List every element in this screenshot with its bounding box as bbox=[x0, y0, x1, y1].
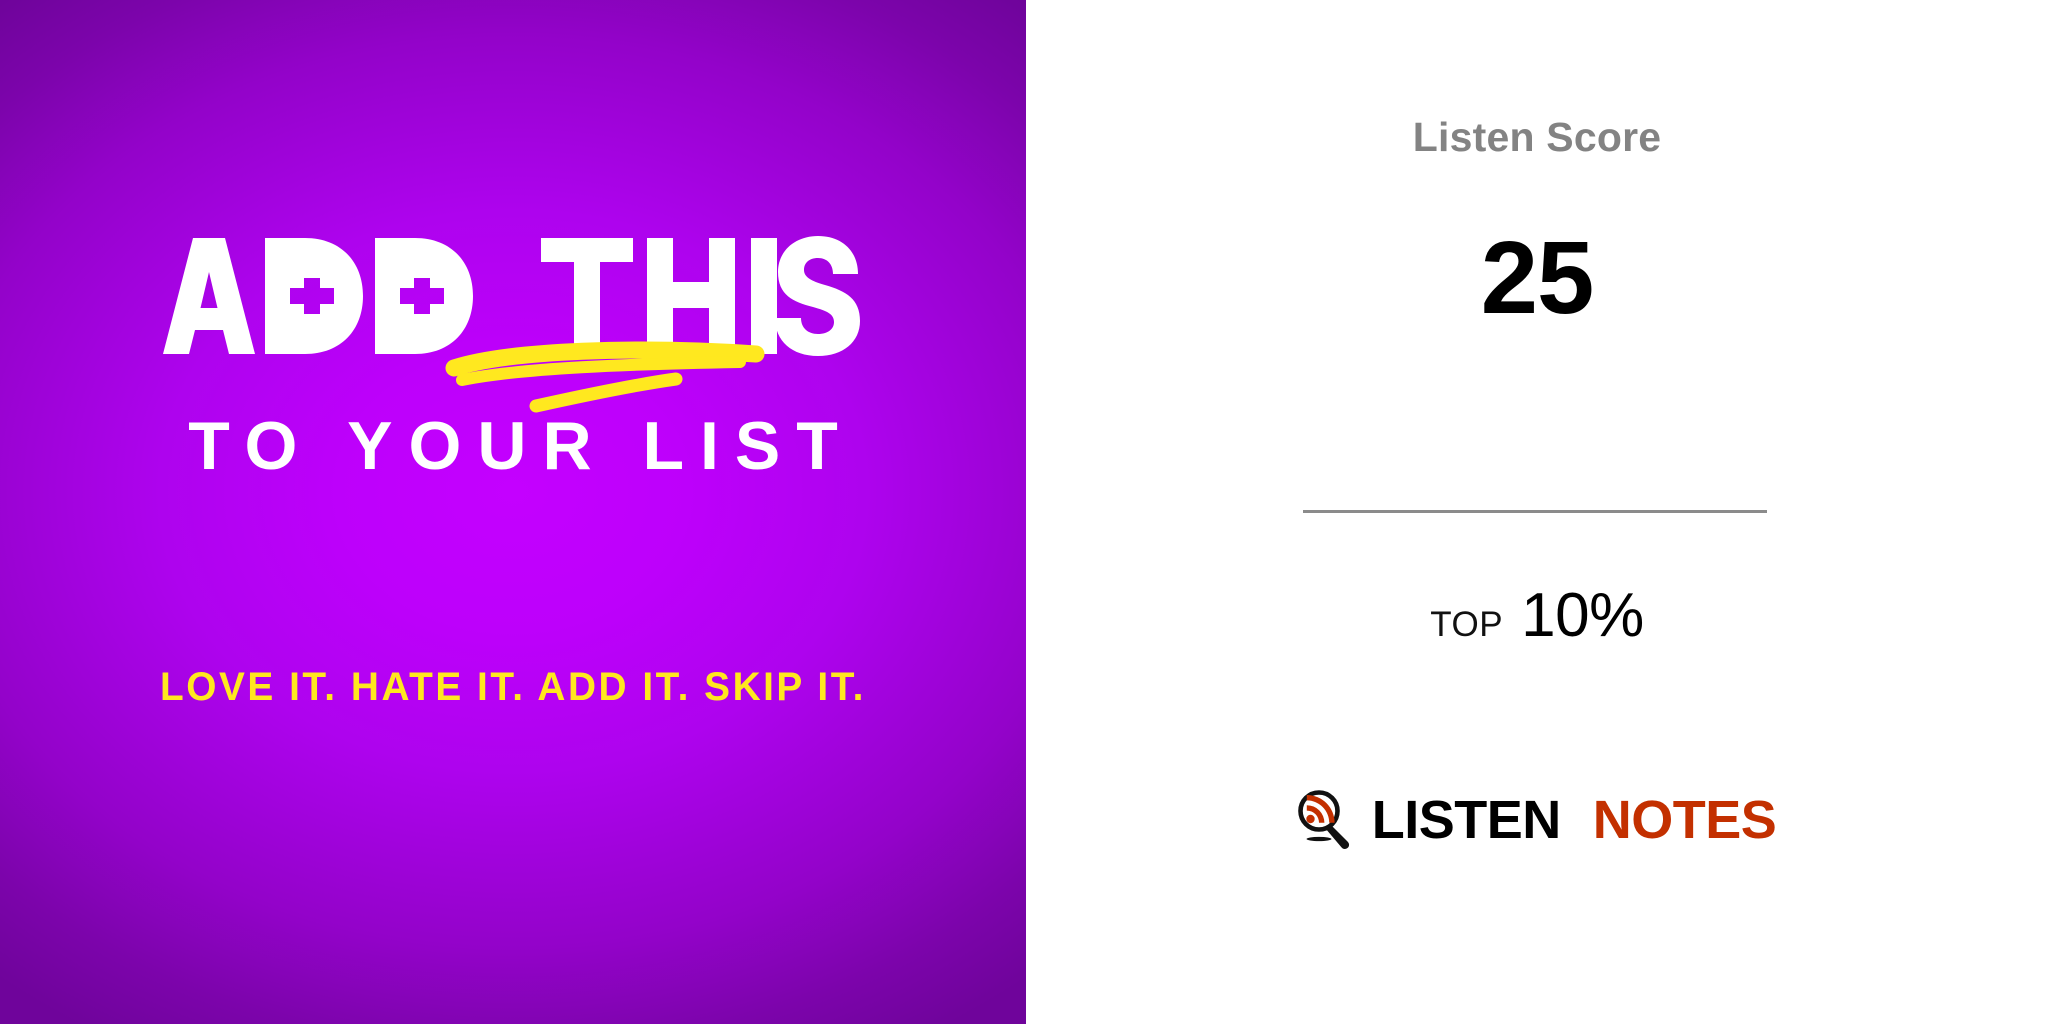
brand-word-notes: NOTES bbox=[1593, 793, 1777, 847]
score-divider bbox=[1303, 510, 1767, 513]
listen-score-value: 25 bbox=[1026, 226, 2048, 329]
listen-score-rank: TOP 10% bbox=[1026, 585, 2048, 647]
cover-art-inner: TO YOUR LIST LOVE IT. HATE IT. ADD IT. S… bbox=[0, 0, 1026, 1024]
podcast-cover-art: TO YOUR LIST LOVE IT. HATE IT. ADD IT. S… bbox=[0, 0, 1026, 1024]
listen-score-panel: Listen Score 25 TOP 10% bbox=[1026, 0, 2048, 1024]
magnifier-rss-glyph bbox=[1298, 790, 1354, 850]
listen-score-title: Listen Score bbox=[1026, 117, 2048, 158]
rank-percentile: 10% bbox=[1521, 585, 1644, 647]
magnifier-rss-icon bbox=[1298, 790, 1354, 850]
listen-notes-logo[interactable]: LISTEN NOTES bbox=[1026, 790, 2048, 850]
rank-label: TOP bbox=[1430, 607, 1503, 642]
listen-score-cover-card: TO YOUR LIST LOVE IT. HATE IT. ADD IT. S… bbox=[0, 0, 2048, 1024]
cover-tagline: LOVE IT. HATE IT. ADD IT. SKIP IT. bbox=[15, 667, 1010, 707]
brand-word-listen: LISTEN bbox=[1372, 793, 1561, 847]
cover-subline: TO YOUR LIST bbox=[0, 412, 1026, 480]
